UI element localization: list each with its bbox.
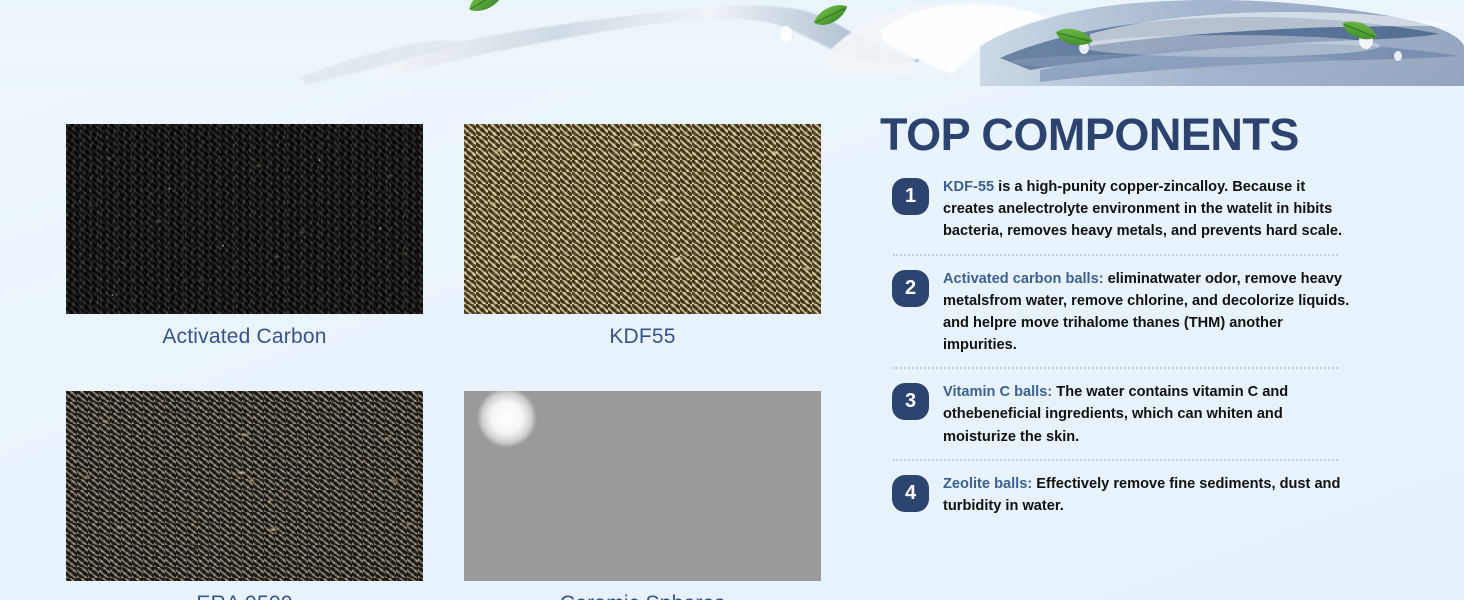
separator — [893, 459, 1338, 461]
separator — [893, 367, 1338, 369]
top-components-panel: TOP COMPONENTS 1 KDF-55 is a high-punity… — [880, 112, 1350, 517]
product-row-bottom: ERA 9500 Ceramic Spheres — [66, 391, 836, 600]
number-badge-1: 1 — [892, 178, 929, 215]
infographic-page: Activated Carbon KDF55 ERA 9500 Ceramic … — [0, 0, 1464, 600]
product-cell-era-9500[interactable]: ERA 9500 — [66, 391, 423, 600]
splash-ribbon — [300, 4, 1050, 84]
number-badge-2: 2 — [892, 270, 929, 307]
component-description: Activated carbon balls: eliminatwater od… — [943, 267, 1350, 357]
list-item: 1 KDF-55 is a high-punity copper-zincall… — [880, 175, 1350, 243]
component-description: Zeolite balls: Effectively remove fine s… — [943, 472, 1350, 517]
activated-carbon-image — [66, 124, 423, 314]
component-body: is a high-punity copper-zincalloy. Becau… — [943, 179, 1342, 239]
component-description: Vitamin C balls: The water contains vita… — [943, 380, 1350, 448]
list-item: 3 Vitamin C balls: The water contains vi… — [880, 380, 1350, 448]
page-title: TOP COMPONENTS — [880, 112, 1350, 157]
product-caption: ERA 9500 — [66, 592, 423, 600]
era-9500-image — [66, 391, 423, 581]
component-description: KDF-55 is a high-punity copper-zincalloy… — [943, 175, 1350, 243]
product-cell-activated-carbon[interactable]: Activated Carbon — [66, 124, 423, 349]
product-cell-ceramic-spheres[interactable]: Ceramic Spheres — [464, 391, 821, 600]
dark-water-swirl — [980, 0, 1464, 86]
water-splash-illustration — [0, 0, 1464, 86]
product-caption: KDF55 — [464, 325, 821, 349]
number-badge-4: 4 — [892, 475, 929, 512]
product-caption: Ceramic Spheres — [464, 592, 821, 600]
kdf55-image — [464, 124, 821, 314]
product-image-grid: Activated Carbon KDF55 ERA 9500 Ceramic … — [66, 124, 836, 600]
component-lead: Zeolite balls: — [943, 476, 1032, 492]
product-caption: Activated Carbon — [66, 325, 423, 349]
number-badge-3: 3 — [892, 383, 929, 420]
water-splash-banner — [0, 0, 1464, 86]
separator — [893, 254, 1338, 256]
list-item: 4 Zeolite balls: Effectively remove fine… — [880, 472, 1350, 517]
component-lead: Activated carbon balls: — [943, 271, 1104, 287]
list-item: 2 Activated carbon balls: eliminatwater … — [880, 267, 1350, 357]
component-lead: KDF-55 — [943, 179, 994, 195]
components-list: 1 KDF-55 is a high-punity copper-zincall… — [880, 175, 1350, 517]
component-lead: Vitamin C balls: — [943, 384, 1052, 400]
product-row-top: Activated Carbon KDF55 — [66, 124, 836, 349]
product-cell-kdf55[interactable]: KDF55 — [464, 124, 821, 349]
ceramic-spheres-image — [464, 391, 821, 581]
